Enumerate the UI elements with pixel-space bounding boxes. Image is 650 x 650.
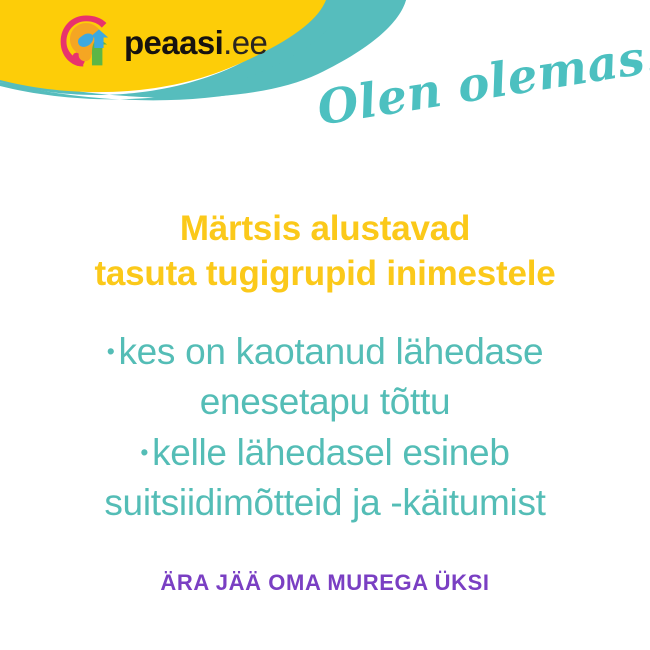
bullet-1-line-1: •kes on kaotanud lähedase (0, 327, 650, 377)
poster-canvas: peaasi.ee Olen olemas! Märtsis alustavad… (0, 0, 650, 650)
target-group-list: •kes on kaotanud lähedase enesetapu tõtt… (0, 327, 650, 528)
bullet-marker-icon: • (107, 338, 119, 364)
list-item: •kelle lähedasel esineb suitsiidimõtteid… (0, 428, 650, 529)
list-item: •kes on kaotanud lähedase enesetapu tõtt… (0, 327, 650, 428)
headline: Märtsis alustavad tasuta tugigrupid inim… (0, 207, 650, 297)
bullet-marker-icon: • (140, 439, 152, 465)
bullet-1-line-2: enesetapu tõttu (0, 377, 650, 427)
headline-line-1: Märtsis alustavad (0, 207, 650, 252)
brand-name-tld: .ee (223, 24, 267, 61)
handwritten-tagline: Olen olemas! (314, 35, 647, 133)
bullet-2-line-2: suitsiidimõtteid ja -käitumist (0, 478, 650, 528)
brand-logo[interactable]: peaasi.ee (56, 10, 267, 72)
brand-name-main: peaasi (124, 24, 223, 61)
bullet-2-text-1: kelle lähedasel esineb (152, 432, 510, 473)
brand-wordmark: peaasi.ee (124, 26, 267, 59)
call-to-action-text: ÄRA JÄÄ OMA MUREGA ÜKSI (0, 570, 650, 596)
headline-line-2: tasuta tugigrupid inimestele (0, 252, 650, 297)
bullet-1-text-1: kes on kaotanud lähedase (118, 331, 543, 372)
peaasi-head-brain-icon (56, 12, 114, 70)
bullet-2-line-1: •kelle lähedasel esineb (0, 428, 650, 478)
